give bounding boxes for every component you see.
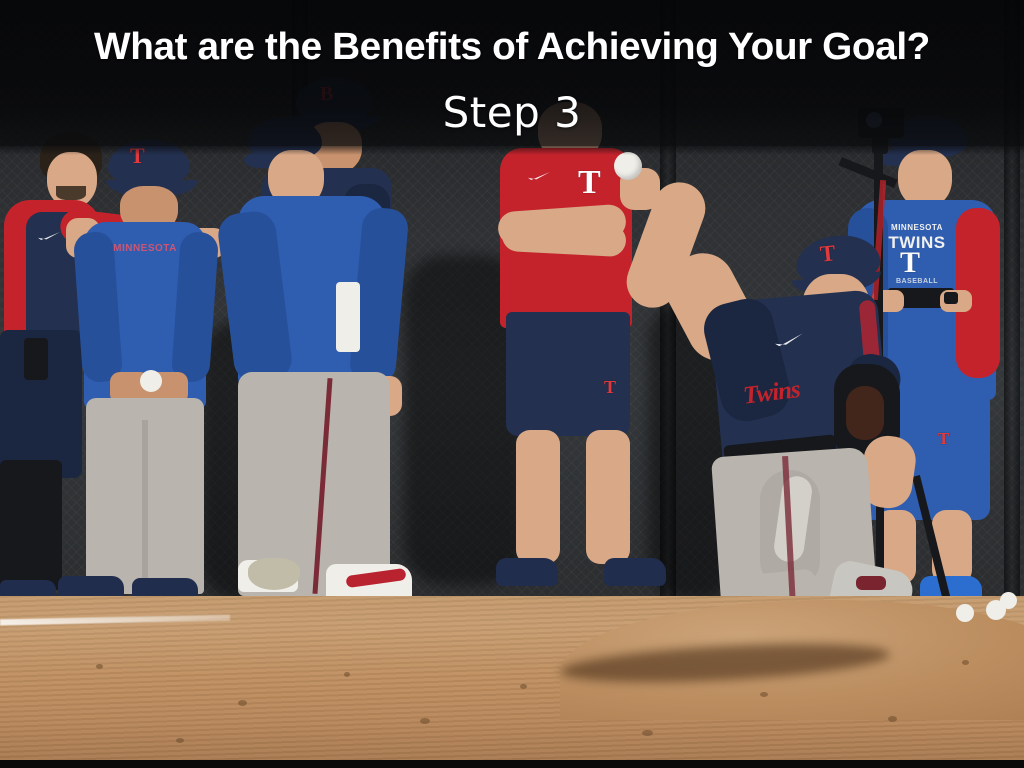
dirt-speck: [962, 660, 969, 665]
hoodie-wordmark: MINNESOTA: [92, 244, 198, 255]
dirt-speck: [96, 664, 103, 669]
shorts: [506, 312, 630, 436]
dirt-speck: [760, 692, 768, 697]
loose-baseball: [1000, 592, 1017, 609]
overlay-fade-edge: [0, 146, 1024, 155]
twins-shorts-logo: T: [604, 378, 616, 396]
beard: [56, 186, 86, 200]
dirt-speck: [176, 738, 184, 743]
shoe: [604, 558, 666, 586]
baseball: [614, 152, 642, 180]
dirt-speck: [420, 718, 430, 724]
slide-step-subtitle: Step 3: [0, 88, 1024, 137]
wristband-paper: [336, 282, 360, 352]
dirt-speck: [344, 672, 350, 677]
twins-shirt-logo: T: [578, 166, 601, 200]
pants: [0, 460, 62, 590]
slide-title: What are the Benefits of Achieving Your …: [0, 26, 1024, 69]
glove-pocket: [846, 386, 884, 440]
radio-device: [24, 338, 48, 380]
baseball-glove: [248, 558, 300, 590]
baseball: [140, 370, 162, 392]
presentation-slide: T MINNESOTA B: [0, 0, 1024, 768]
twins-cap-logo: T: [819, 241, 837, 265]
dirt-speck: [520, 684, 527, 689]
twins-shorts-logo: T: [938, 430, 949, 447]
wristwatch: [944, 292, 958, 304]
dirt-speck: [888, 716, 897, 722]
leg: [586, 430, 630, 564]
loose-baseball: [956, 604, 974, 622]
shoe: [496, 558, 558, 586]
bottom-letterbox-bar: [0, 760, 1024, 768]
crossed-arm: [501, 219, 627, 257]
twins-hoodie-logo: T: [900, 248, 920, 278]
dirt-speck: [642, 730, 653, 736]
cleat-logo: [856, 576, 886, 590]
leg: [516, 430, 560, 564]
pants-crease: [142, 420, 148, 592]
dirt-speck: [238, 700, 247, 706]
